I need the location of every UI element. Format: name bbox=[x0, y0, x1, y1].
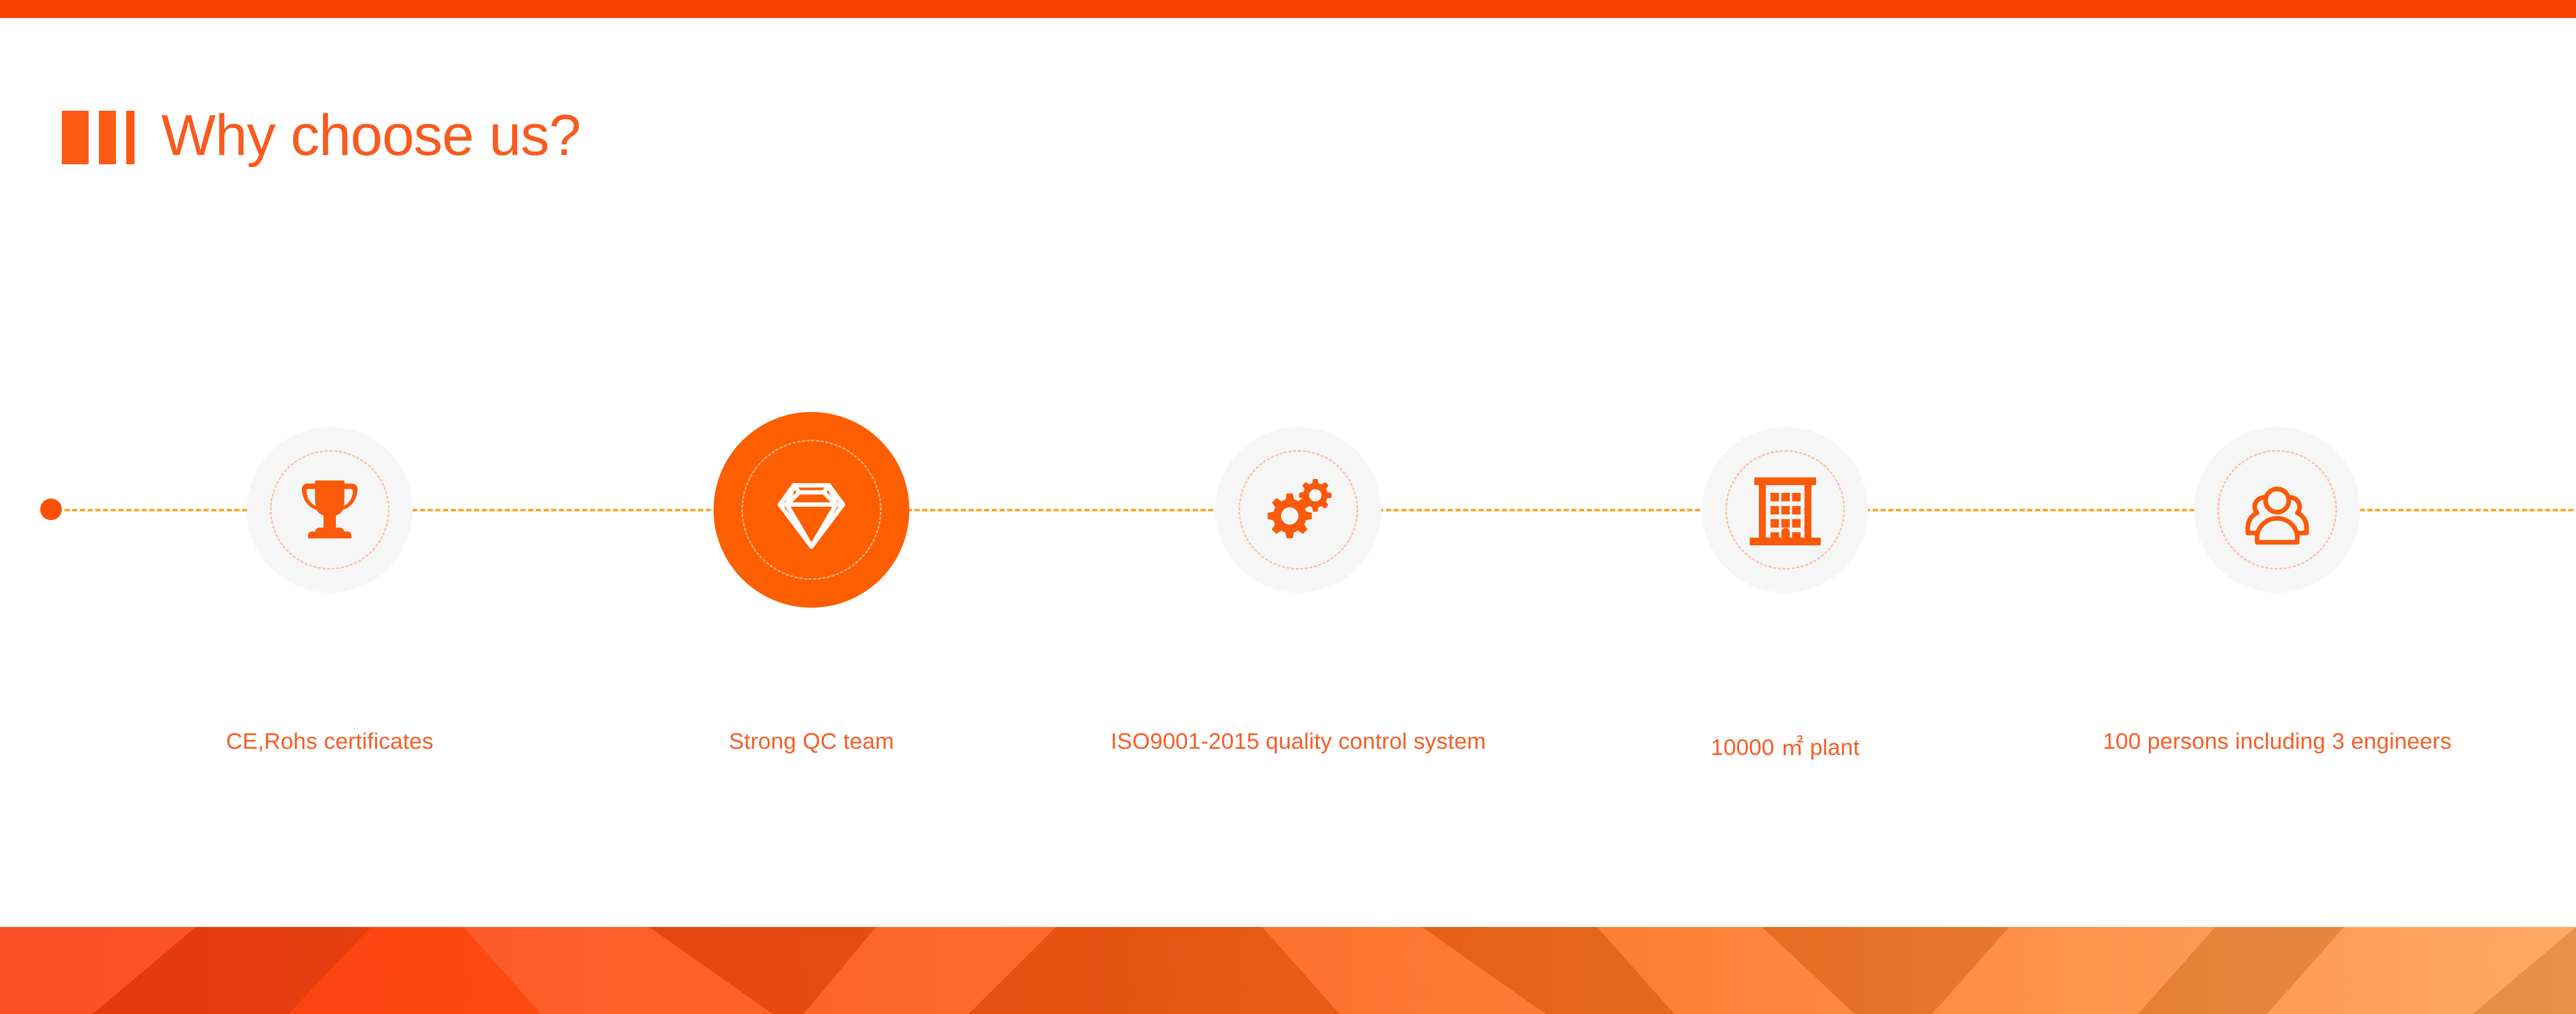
bottom-decoration-band bbox=[0, 927, 2576, 1014]
feature-caption: CE,Rohs certificates bbox=[226, 729, 434, 754]
people-group-icon bbox=[2239, 471, 2316, 548]
diamond-icon bbox=[768, 466, 855, 554]
feature-icon-circle[interactable] bbox=[180, 360, 479, 659]
feature-item-list: CE,Rohs certificates Strong QC team ISO9… bbox=[0, 0, 2576, 1014]
feature-caption: 10000 ㎡ plant bbox=[1711, 729, 1860, 762]
building-icon bbox=[1747, 471, 1824, 548]
feature-caption: Strong QC team bbox=[729, 729, 894, 754]
feature-icon-circle[interactable] bbox=[662, 360, 961, 659]
feature-icon-circle[interactable] bbox=[2128, 360, 2427, 659]
feature-icon-circle[interactable] bbox=[1149, 360, 1448, 659]
slide-canvas: Why choose us? CE,Rohs certificates Stro… bbox=[0, 0, 2576, 1014]
feature-caption: ISO9001-2015 quality control system bbox=[1111, 729, 1486, 754]
trophy-icon bbox=[291, 471, 368, 548]
feature-caption: 100 persons including 3 engineers bbox=[2103, 729, 2452, 754]
gears-icon bbox=[1260, 471, 1337, 548]
feature-icon-circle[interactable] bbox=[1636, 360, 1935, 659]
